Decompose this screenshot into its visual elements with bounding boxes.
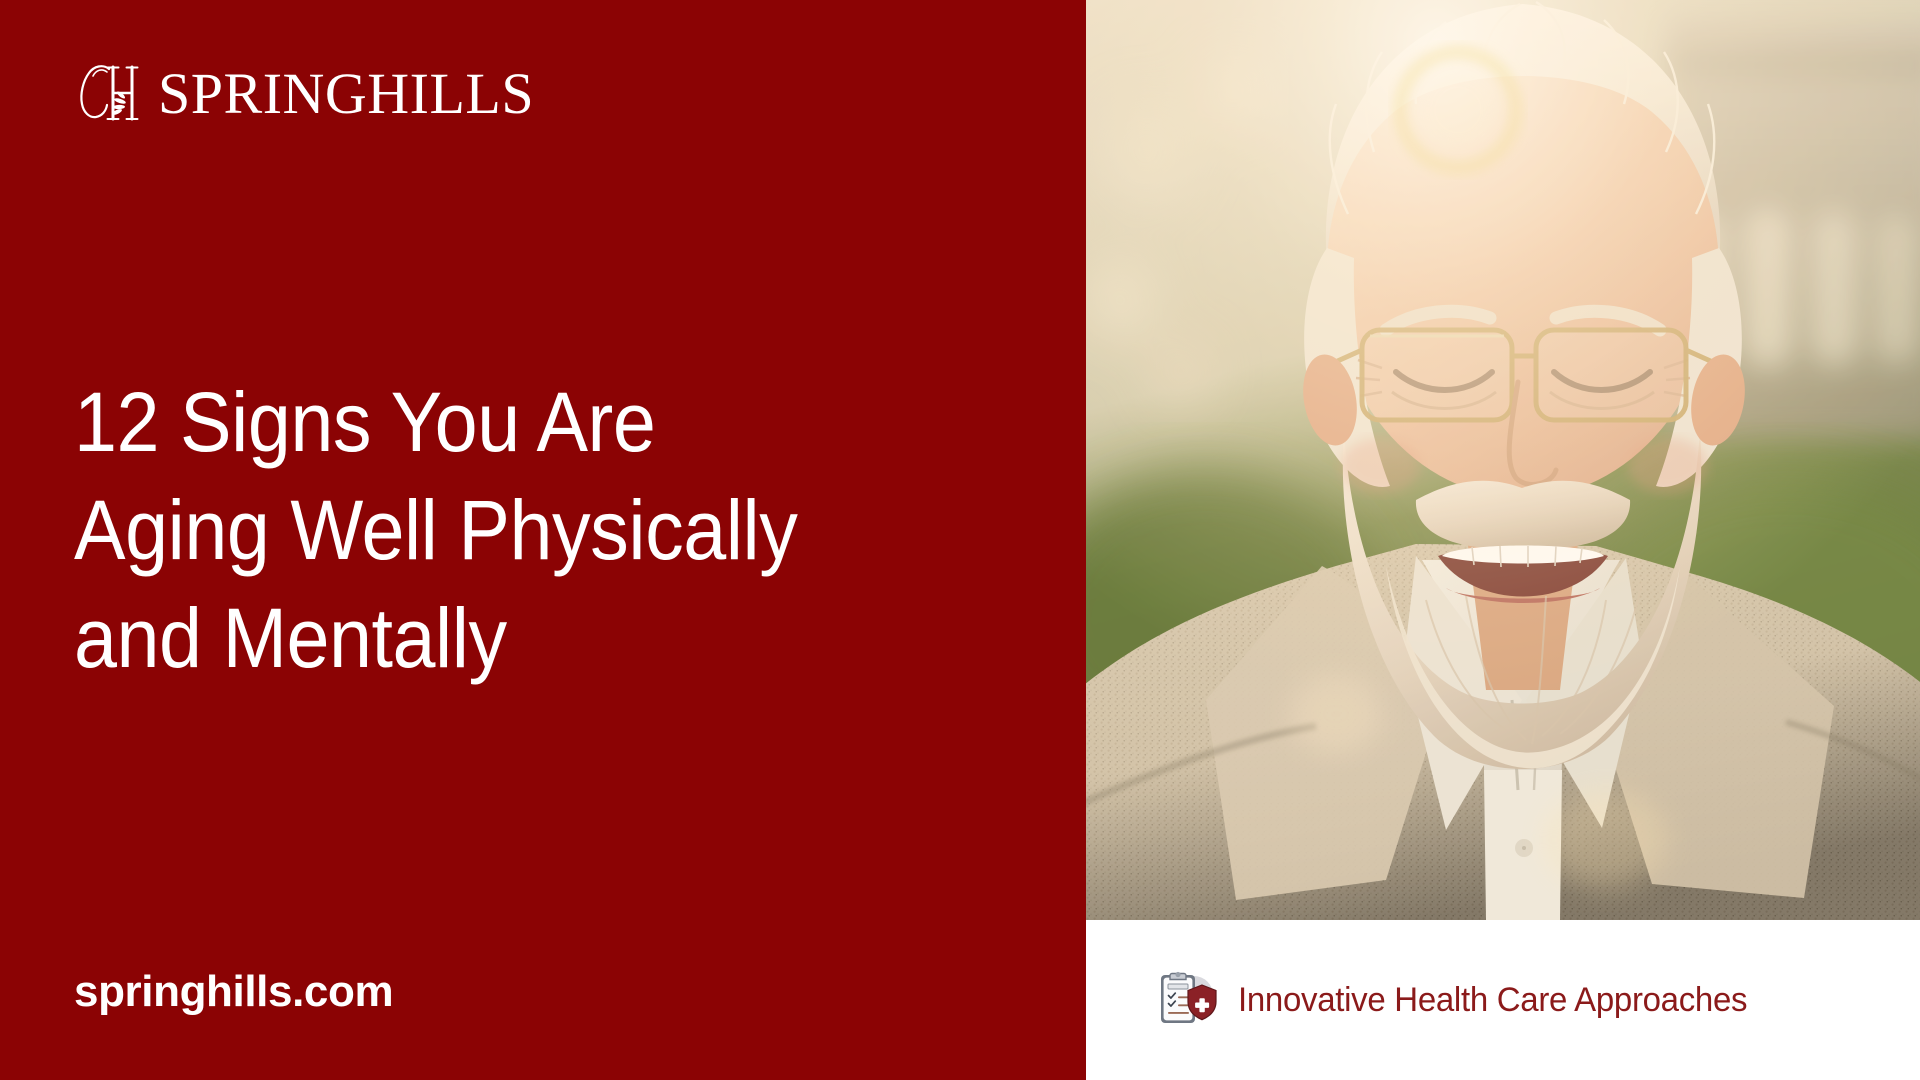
headline-line-3: and Mentally (74, 584, 930, 692)
hero-photo (1086, 0, 1920, 920)
bottom-banner: Innovative Health Care Approaches (1086, 920, 1920, 1080)
left-red-panel: SPRINGHILLS 12 Signs You Are Aging Well … (0, 0, 1086, 1080)
logo-wordmark: SPRINGHILLS (158, 65, 534, 123)
headline-line-1: 12 Signs You Are (74, 368, 930, 476)
slide-canvas: SPRINGHILLS 12 Signs You Are Aging Well … (0, 0, 1920, 1080)
monogram-icon (72, 61, 144, 125)
page-title: 12 Signs You Are Aging Well Physically a… (74, 368, 930, 692)
clipboard-shield-icon (1154, 967, 1220, 1033)
springhills-logo[interactable]: SPRINGHILLS (72, 60, 534, 126)
banner-label: Innovative Health Care Approaches (1238, 980, 1747, 1020)
elderly-man-portrait-image (1086, 0, 1920, 920)
headline-line-2: Aging Well Physically (74, 476, 930, 584)
site-url[interactable]: springhills.com (74, 966, 393, 1018)
